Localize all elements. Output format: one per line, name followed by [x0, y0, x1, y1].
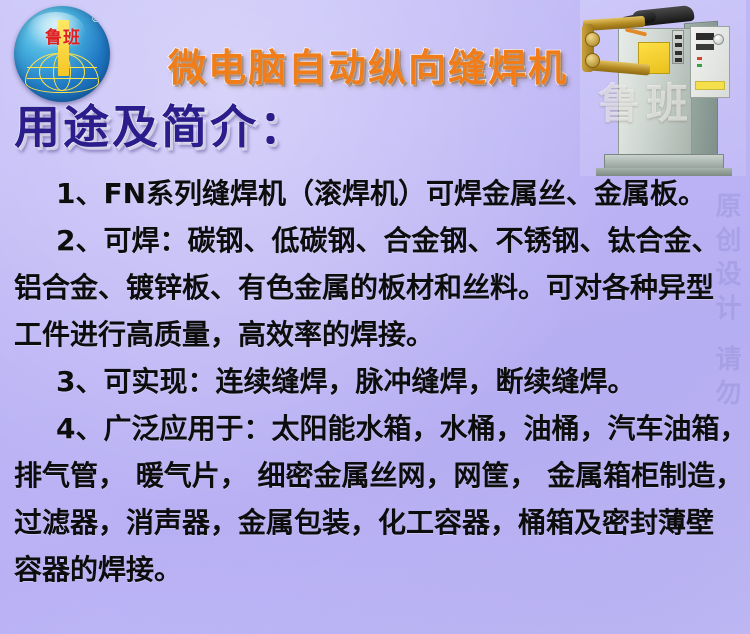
panel-display-secondary	[696, 44, 714, 50]
description-line: 过滤器，消声器，金属包装，化工容器，桶箱及密封薄壁	[0, 499, 750, 546]
machine-welding-wheel	[585, 32, 600, 47]
description-line: 工件进行高质量，高效率的焊接。	[0, 311, 750, 358]
description-body: 1、FN系列缝焊机（滚焊机）可焊金属丝、金属板。 2、可焊：碳钢、低碳钢、合金钢…	[0, 170, 750, 593]
panel-indicator-led	[697, 57, 702, 60]
machine-switch-column	[672, 30, 684, 64]
logo-brand-text: 鲁班	[33, 30, 93, 47]
luban-logo: 鲁班 ®	[14, 6, 110, 102]
registered-trademark-icon: ®	[91, 15, 101, 25]
description-line: 铝合金、镀锌板、有色金属的板材和丝料。可对各种异型	[0, 264, 750, 311]
description-line: 2、可焊：碳钢、低碳钢、合金钢、不锈钢、钛合金、	[0, 217, 750, 264]
description-line: 容器的焊接。	[0, 546, 750, 593]
panel-indicator-led	[697, 64, 702, 67]
description-line: 1、FN系列缝焊机（滚焊机）可焊金属丝、金属板。	[0, 170, 750, 217]
description-line: 3、可实现：连续缝焊，脉冲缝焊，断续缝焊。	[0, 358, 750, 405]
machine-control-panel	[690, 26, 730, 98]
section-heading: 用途及简介：	[14, 91, 308, 157]
description-line: 4、广泛应用于：太阳能水箱，水桶，油桶，汽车油箱，	[0, 405, 750, 452]
panel-knob	[713, 34, 724, 45]
globe-latitude-line	[27, 78, 97, 79]
seam-welding-machine-photo: 鲁班	[580, 0, 746, 176]
description-line: 排气管， 暖气片， 细密金属丝网，网筐， 金属箱柜制造，	[0, 452, 750, 499]
machine-welding-wheel	[585, 53, 600, 68]
product-title: 微电脑自动纵向缝焊机	[168, 37, 568, 92]
product-poster: 鲁班 ® 鲁班 微电脑自动纵向缝焊机 用途及简介：	[0, 0, 750, 634]
photo-watermark: 鲁班	[598, 70, 694, 131]
panel-label-strip	[695, 81, 725, 90]
panel-display	[696, 33, 714, 40]
